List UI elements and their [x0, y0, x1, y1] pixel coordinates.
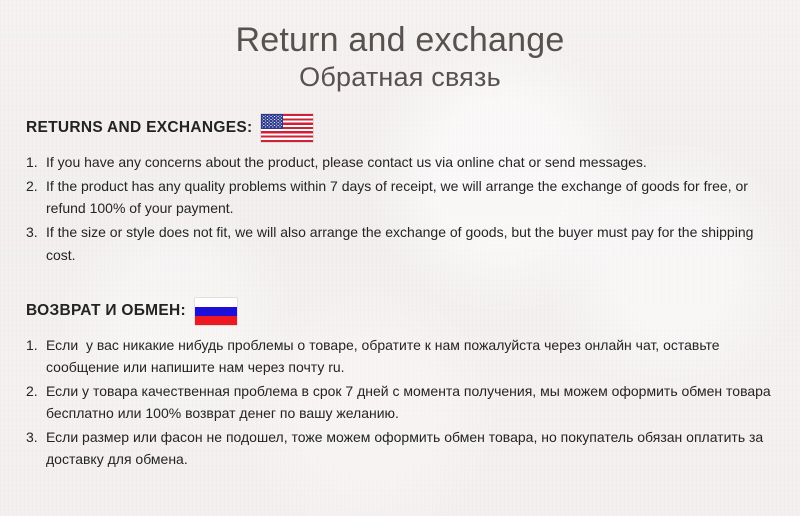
return-and-exchange-page: Return and exchange Обратная связь RETUR… [0, 0, 800, 516]
list-item-text: Если размер или фасон не подошел, тоже м… [46, 429, 767, 467]
list-item: 2. Если у товара качественная проблема в… [26, 380, 774, 424]
list-item-text: If the size or style does not fit, we wi… [46, 224, 757, 262]
list-item-number: 2. [26, 175, 38, 197]
section-vozvrat-i-obmen: ВОЗВРАТ И ОБМЕН: 1. Если у вас никакие н… [0, 298, 800, 471]
section-heading-label-russian: ВОЗВРАТ И ОБМЕН: [26, 302, 186, 320]
list-item: 1. Если у вас никакие нибудь проблемы о … [26, 334, 774, 378]
english-policy-list: 1. If you have any concerns about the pr… [26, 151, 774, 266]
list-item-text: If you have any concerns about the produ… [46, 154, 647, 170]
list-item-number: 3. [26, 426, 38, 448]
ru-flag-white-band [195, 298, 237, 307]
page-title-block: Return and exchange Обратная связь [0, 0, 800, 93]
list-item-text: Если у вас никакие нибудь проблемы о тов… [46, 337, 723, 375]
section-returns-and-exchanges: RETURNS AND EXCHANGES: 1. If you have an… [0, 114, 800, 266]
list-item-number: 1. [26, 334, 38, 356]
list-item: 3. Если размер или фасон не подошел, тож… [26, 426, 774, 470]
us-flag-stars [262, 115, 282, 128]
us-flag-icon [261, 114, 313, 142]
ru-flag-blue-band [195, 307, 237, 316]
section-header-russian: ВОЗВРАТ И ОБМЕН: [26, 298, 774, 325]
list-item-number: 3. [26, 221, 38, 243]
page-title-english: Return and exchange [0, 22, 800, 59]
ru-flag-icon [195, 298, 237, 325]
ru-flag-red-band [195, 316, 237, 325]
us-flag-canton [261, 114, 283, 129]
list-item: 3. If the size or style does not fit, we… [26, 221, 774, 265]
list-item: 1. If you have any concerns about the pr… [26, 151, 774, 173]
page-title-russian: Обратная связь [0, 61, 800, 93]
list-item-text: If the product has any quality problems … [46, 178, 752, 216]
list-item-text: Если у товара качественная проблема в ср… [46, 383, 775, 421]
section-header-english: RETURNS AND EXCHANGES: [26, 114, 774, 142]
russian-policy-list: 1. Если у вас никакие нибудь проблемы о … [26, 334, 774, 471]
list-item-number: 1. [26, 151, 38, 173]
list-item: 2. If the product has any quality proble… [26, 175, 774, 219]
list-item-number: 2. [26, 380, 38, 402]
section-heading-label-english: RETURNS AND EXCHANGES: [26, 119, 252, 137]
